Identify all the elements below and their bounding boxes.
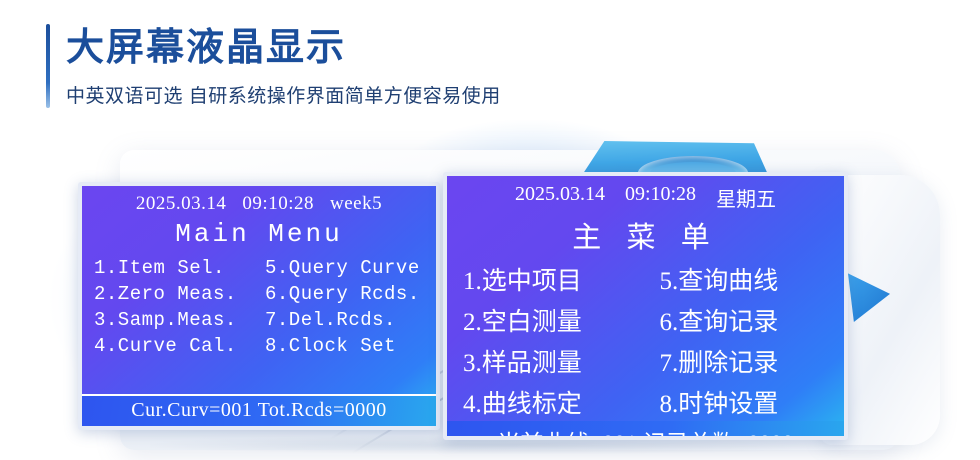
menu-item-cn-3[interactable]: 3.样品测量 — [457, 342, 646, 380]
menu-item-en-4[interactable]: 4.Curve Cal. — [92, 334, 259, 358]
menu-item-cn-1[interactable]: 1.选中项目 — [457, 260, 646, 298]
promo-banner: 大屏幕液晶显示 中英双语可选 自研系统操作界面简单方便容易使用 2025.03.… — [0, 0, 980, 460]
lcd-main-area-chinese: 2025.03.14 09:10:28 星期五 主 菜 单 1.选中项目 5.查… — [447, 176, 844, 421]
menu-item-en-5[interactable]: 5.Query Curve — [259, 256, 426, 280]
menu-item-cn-8[interactable]: 8.时钟设置 — [646, 383, 835, 421]
lcd-statusline-chinese: 2025.03.14 09:10:28 星期五 — [457, 183, 834, 212]
lcd-footer-status-cn: 当前曲线=001 记录总数=0000 — [447, 421, 844, 436]
lcd-main-area-english: 2025.03.14 09:10:28 week5 Main Menu 1.It… — [82, 186, 436, 394]
header-accent-bar — [46, 24, 50, 108]
menu-grid-cn: 1.选中项目 5.查询曲线 2.空白测量 6.查询记录 3.样品测量 7.删除记… — [457, 260, 834, 421]
menu-item-cn-2[interactable]: 2.空白测量 — [457, 301, 646, 339]
page-title: 大屏幕液晶显示 — [66, 26, 501, 71]
lcd-footer-status-en: Cur.Curv=001 Tot.Rcds=0000 — [82, 396, 436, 426]
menu-item-en-7[interactable]: 7.Del.Rcds. — [259, 308, 426, 332]
menu-item-cn-1-label: 1.选中项目 — [463, 268, 582, 295]
weekday-label-en: week5 — [330, 193, 382, 215]
menu-item-cn-5[interactable]: 5.查询曲线 — [646, 260, 835, 298]
page-subtitle: 中英双语可选 自研系统操作界面简单方便容易使用 — [66, 81, 501, 108]
menu-grid-en: 1.Item Sel. 5.Query Curve 2.Zero Meas. 6… — [92, 256, 426, 358]
menu-title-en: Main Menu — [92, 219, 426, 249]
menu-item-en-2[interactable]: 2.Zero Meas. — [92, 282, 259, 306]
time-label-en: 09:10:28 — [242, 193, 314, 215]
menu-item-cn-7[interactable]: 7.删除记录 — [646, 342, 835, 380]
lcd-statusline-english: 2025.03.14 09:10:28 week5 — [92, 193, 426, 215]
date-label-cn: 2025.03.14 — [515, 183, 605, 212]
menu-item-cn-4[interactable]: 4.曲线标定 — [457, 383, 646, 421]
menu-item-cn-6[interactable]: 6.查询记录 — [646, 301, 835, 339]
banner-header: 大屏幕液晶显示 中英双语可选 自研系统操作界面简单方便容易使用 — [46, 24, 501, 108]
menu-item-en-1-label: 1.Item Sel. — [94, 257, 225, 279]
instrument-blue-accent — [848, 268, 890, 322]
menu-title-cn: 主 菜 单 — [457, 214, 834, 256]
menu-item-en-8[interactable]: 8.Clock Set — [259, 334, 426, 358]
weekday-label-cn: 星期五 — [716, 183, 776, 212]
menu-item-en-1[interactable]: 1.Item Sel. — [92, 256, 259, 280]
lcd-screen-chinese: 2025.03.14 09:10:28 星期五 主 菜 单 1.选中项目 5.查… — [443, 172, 848, 440]
date-label-en: 2025.03.14 — [136, 193, 227, 215]
lcd-screen-english: 2025.03.14 09:10:28 week5 Main Menu 1.It… — [78, 182, 440, 430]
menu-item-en-3[interactable]: 3.Samp.Meas. — [92, 308, 259, 332]
time-label-cn: 09:10:28 — [625, 183, 696, 212]
menu-item-en-6[interactable]: 6.Query Rcds. — [259, 282, 426, 306]
